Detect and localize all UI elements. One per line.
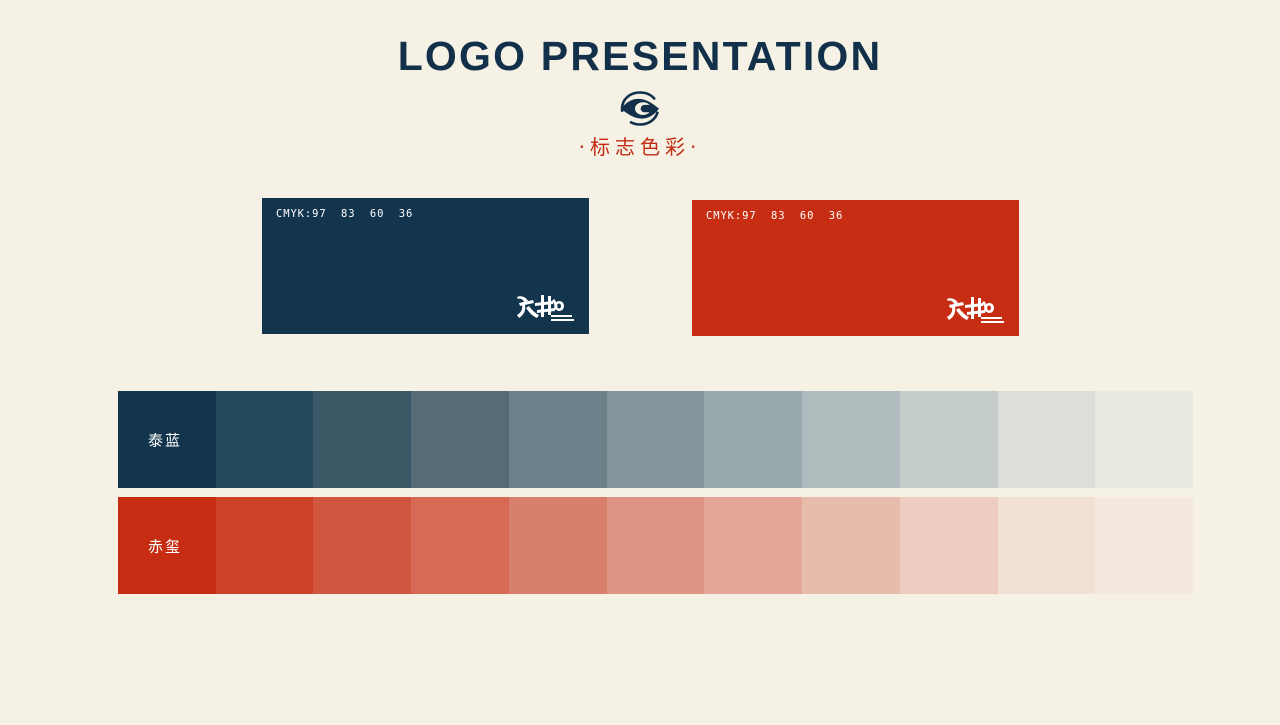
color-swatch[interactable] (411, 497, 509, 594)
color-swatch[interactable] (607, 497, 705, 594)
color-swatch[interactable] (998, 497, 1096, 594)
palette-label: 泰蓝 (148, 429, 182, 450)
color-swatch[interactable] (216, 391, 314, 488)
primary-blue-card: CMYK:97 83 60 36 (262, 198, 589, 334)
slide-canvas: LOGO PRESENTATION ·标志色彩· CMYK:97 83 60 3… (0, 0, 1280, 725)
eye-leaf-circle-logo-icon (617, 90, 663, 128)
color-swatch[interactable]: 泰蓝 (118, 391, 216, 488)
color-swatch[interactable] (509, 391, 607, 488)
palette-row-tai-blue: 泰蓝 (118, 391, 1193, 488)
page-subtitle: ·标志色彩· (0, 137, 1280, 157)
color-swatch[interactable] (900, 391, 998, 488)
cmyk-value-red: CMYK:97 83 60 36 (706, 210, 843, 222)
color-swatch[interactable] (411, 391, 509, 488)
color-swatch[interactable] (704, 391, 802, 488)
color-swatch[interactable] (998, 391, 1096, 488)
primary-red-card: CMYK:97 83 60 36 (692, 200, 1019, 336)
color-swatch[interactable] (802, 497, 900, 594)
page-title: LOGO PRESENTATION (0, 36, 1280, 77)
header: LOGO PRESENTATION ·标志色彩· (0, 0, 1280, 157)
brand-signature-icon (513, 291, 577, 325)
color-swatch[interactable] (313, 391, 411, 488)
color-swatch[interactable] (607, 391, 705, 488)
color-swatch[interactable] (704, 497, 802, 594)
color-swatch[interactable] (1095, 391, 1193, 488)
color-swatch[interactable] (216, 497, 314, 594)
palette-row-chi-xi-red: 赤玺 (118, 497, 1193, 594)
color-swatch[interactable] (313, 497, 411, 594)
color-swatch[interactable] (900, 497, 998, 594)
cmyk-value-blue: CMYK:97 83 60 36 (276, 208, 413, 220)
color-swatch[interactable] (1095, 497, 1193, 594)
palette-label: 赤玺 (148, 535, 182, 556)
color-swatch[interactable] (509, 497, 607, 594)
color-swatch[interactable]: 赤玺 (118, 497, 216, 594)
color-swatch[interactable] (802, 391, 900, 488)
brand-signature-icon (943, 293, 1007, 327)
